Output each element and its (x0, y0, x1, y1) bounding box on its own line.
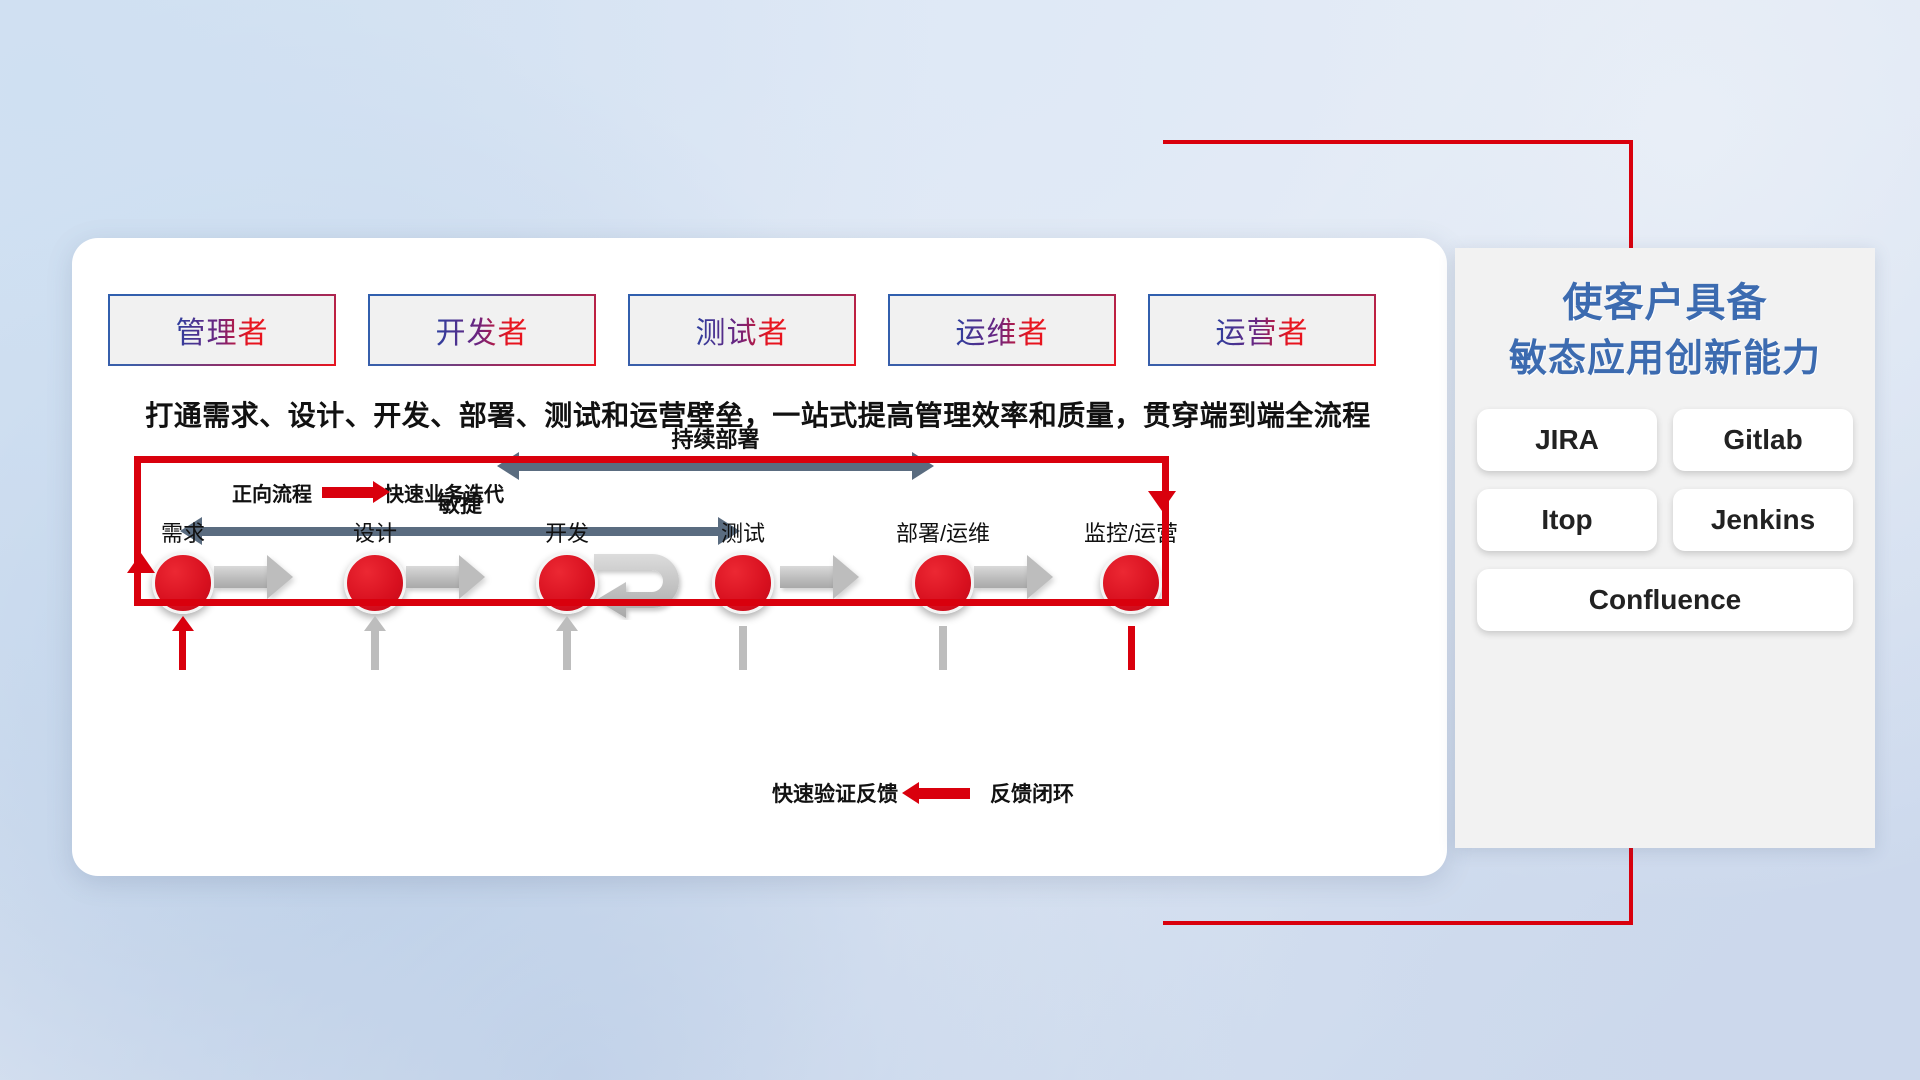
tools-title-line-1: 使客户具备 (1477, 274, 1853, 332)
stage-stub-development (563, 626, 571, 670)
stage-stub-deploy (939, 626, 947, 670)
role-box-operations-engineer[interactable]: 运维者 (888, 294, 1116, 366)
role-label: 测试者 (696, 308, 789, 352)
arrow-left-red-icon (918, 788, 970, 799)
stage-stub-design (371, 626, 379, 670)
tool-chip-confluence[interactable]: Confluence (1477, 569, 1853, 631)
arrow-up-red-icon (127, 553, 155, 573)
feedback-right-label: 反馈闭环 (990, 778, 1074, 808)
stage-stub-requirements (179, 626, 186, 670)
stage-stub-arrow-design-icon (364, 616, 386, 631)
tools-panel-title: 使客户具备 敏态应用创新能力 (1477, 274, 1853, 387)
feedback-left-label: 快速验证反馈 (772, 778, 898, 808)
tool-chip-jira[interactable]: JIRA (1477, 409, 1657, 471)
stage-stub-monitor (1128, 626, 1135, 670)
role-label: 管理者 (176, 308, 269, 352)
role-label: 开发者 (436, 308, 529, 352)
tool-chip-itop[interactable]: Itop (1477, 489, 1657, 551)
role-label: 运维者 (956, 308, 1049, 352)
main-content-card: 管理者 开发者 测试者 运维者 运营者 打通需求、设计、开发、部署、测试和运营壁… (72, 238, 1447, 876)
tools-title-line-2: 敏态应用创新能力 (1477, 332, 1853, 387)
role-box-business-operator[interactable]: 运营者 (1148, 294, 1376, 366)
slide-canvas: 管理者 开发者 测试者 运维者 运营者 打通需求、设计、开发、部署、测试和运营壁… (0, 0, 1920, 1080)
role-label: 运营者 (1216, 308, 1309, 352)
stage-stub-testing (739, 626, 747, 670)
role-box-developer[interactable]: 开发者 (368, 294, 596, 366)
span-label: 持续部署 (497, 422, 934, 454)
roles-row: 管理者 开发者 测试者 运维者 运营者 (108, 294, 1376, 366)
tool-chip-gitlab[interactable]: Gitlab (1673, 409, 1853, 471)
tools-panel: 使客户具备 敏态应用创新能力 JIRA Gitlab Itop Jenkins … (1455, 248, 1875, 848)
feedback-caption: 快速验证反馈 反馈闭环 (772, 778, 1074, 808)
role-box-manager[interactable]: 管理者 (108, 294, 336, 366)
red-feedback-loop (134, 456, 1169, 606)
role-box-tester[interactable]: 测试者 (628, 294, 856, 366)
tool-chip-jenkins[interactable]: Jenkins (1673, 489, 1853, 551)
stage-stub-arrow-requirements-icon (172, 616, 194, 631)
tools-grid: JIRA Gitlab Itop Jenkins Confluence (1477, 409, 1853, 631)
arrow-down-red-icon (1148, 491, 1176, 511)
stage-stub-arrow-development-icon (556, 616, 578, 631)
